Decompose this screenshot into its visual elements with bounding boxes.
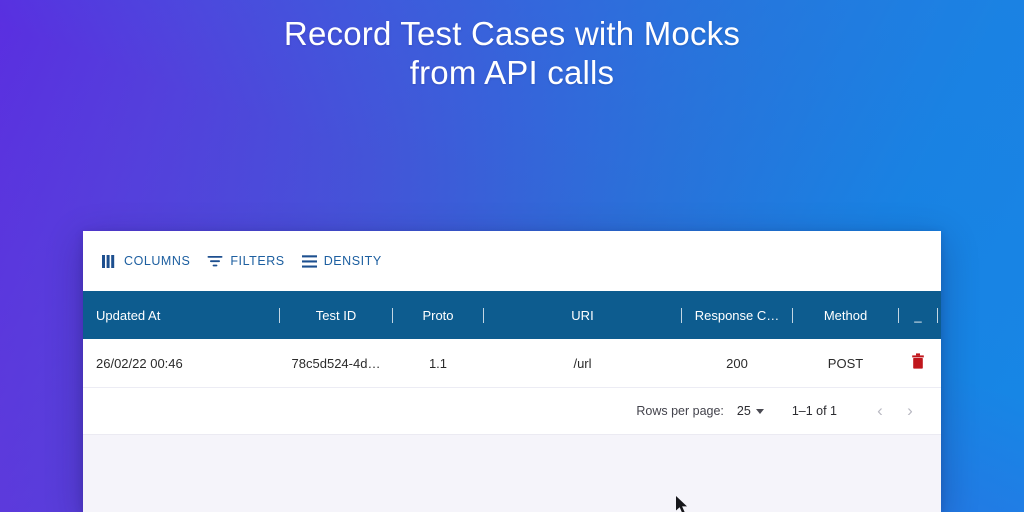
column-header-actions[interactable]: _	[899, 291, 937, 339]
column-header-updated-at[interactable]: Updated At	[83, 291, 279, 339]
table-row[interactable]: 26/02/22 00:46 78c5d524-4d… 1.1 /url 200…	[83, 339, 941, 388]
chevron-left-icon[interactable]: ‹	[865, 396, 895, 426]
columns-icon	[102, 255, 117, 268]
cell-uri: /url	[484, 339, 681, 387]
grid-empty-area	[83, 435, 941, 512]
column-header-method[interactable]: Method	[793, 291, 898, 339]
cell-response-code: 200	[682, 339, 792, 387]
density-button[interactable]: DENSITY	[300, 251, 391, 271]
title-line-2: from API calls	[0, 53, 1024, 92]
page-title: Record Test Cases with Mocks from API ca…	[0, 14, 1024, 92]
funnel-icon	[207, 255, 223, 268]
chevron-right-icon[interactable]: ›	[895, 396, 925, 426]
rows-per-page-value[interactable]: 25	[737, 404, 751, 418]
column-header-response-code[interactable]: Response C…	[682, 291, 792, 339]
cell-method: POST	[793, 339, 898, 387]
chevron-down-icon[interactable]	[756, 409, 764, 414]
slide-background: Record Test Cases with Mocks from API ca…	[0, 0, 1024, 512]
data-grid-card: COLUMNS FILTERS	[83, 231, 941, 512]
cell-updated-at: 26/02/22 00:46	[83, 339, 279, 387]
trash-icon	[911, 353, 925, 373]
pagination-bar: Rows per page: 25 1–1 of 1 ‹ ›	[83, 388, 941, 435]
filters-label: FILTERS	[230, 254, 284, 268]
mouse-pointer-icon	[676, 496, 689, 512]
density-lines-icon	[302, 255, 317, 268]
table-header-row: Updated At Test ID Proto URI Response C……	[83, 291, 941, 339]
delete-row-button[interactable]	[899, 339, 937, 387]
column-header-proto[interactable]: Proto	[393, 291, 483, 339]
rows-per-page-label: Rows per page:	[636, 404, 724, 418]
pagination-range: 1–1 of 1	[792, 404, 837, 418]
columns-button[interactable]: COLUMNS	[100, 251, 199, 271]
title-line-1: Record Test Cases with Mocks	[284, 15, 740, 52]
grid-toolbar: COLUMNS FILTERS	[83, 231, 941, 291]
cell-proto: 1.1	[393, 339, 483, 387]
column-separator[interactable]	[937, 308, 938, 323]
column-header-uri[interactable]: URI	[484, 291, 681, 339]
density-label: DENSITY	[324, 254, 382, 268]
filters-button[interactable]: FILTERS	[205, 251, 293, 271]
cell-test-id: 78c5d524-4d…	[280, 339, 392, 387]
columns-label: COLUMNS	[124, 254, 190, 268]
column-header-test-id[interactable]: Test ID	[280, 291, 392, 339]
